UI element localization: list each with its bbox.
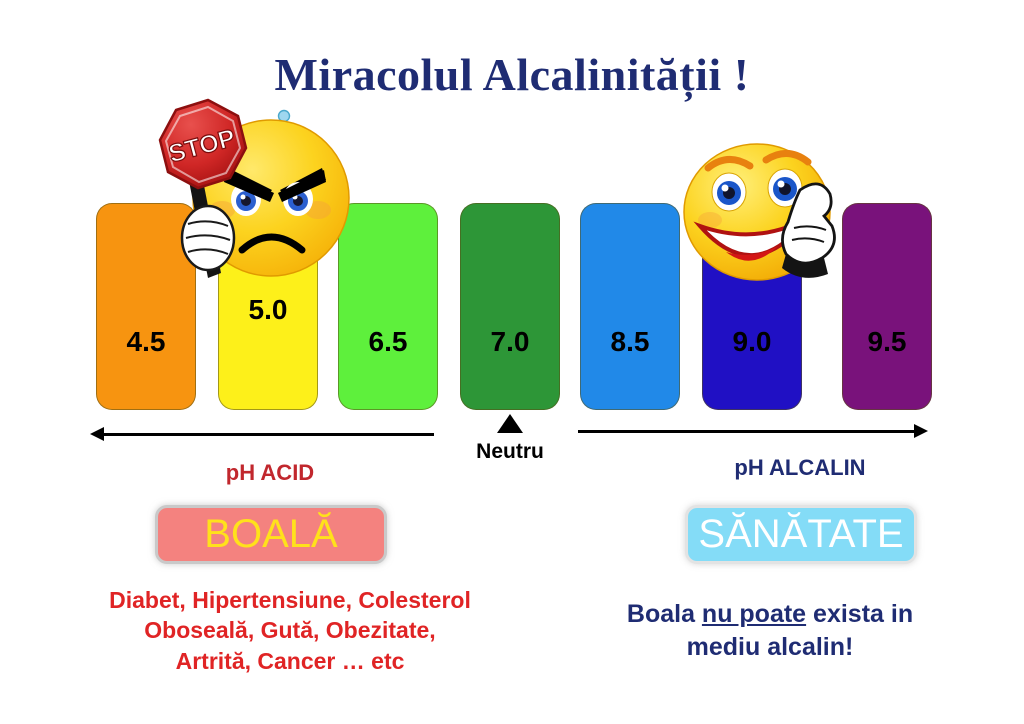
disease-list-line-2: Oboseală, Gută, Obezitate, [60, 615, 520, 645]
page-title: Miracolul Alcalinității ! [0, 48, 1024, 101]
disease-list: Diabet, Hipertensiune, Colesterol Obosea… [60, 585, 520, 676]
ph-bar-label-9-5: 9.5 [842, 326, 932, 358]
badge-boala: BOALĂ [155, 505, 387, 564]
disease-list-line-1: Diabet, Hipertensiune, Colesterol [60, 585, 520, 615]
disease-list-line-3: Artrită, Cancer … etc [60, 646, 520, 676]
ph-bar-label-8-5: 8.5 [580, 326, 680, 358]
happy-emoji-with-thumbs-up [682, 142, 867, 292]
health-message-line-1: Boala nu poate exista in [560, 598, 980, 631]
badge-sanatate: SĂNĂTATE [685, 505, 917, 564]
alkaline-axis-line [578, 430, 916, 433]
acid-arrow-head-icon [90, 427, 104, 441]
ph-scale-poster: Miracolul Alcalinității ! 4.5 5.0 6.5 7.… [0, 0, 1024, 724]
health-message: Boala nu poate exista in mediu alcalin! [560, 598, 980, 664]
ph-bar-8-5 [580, 203, 680, 410]
ph-bar-label-5-0: 5.0 [218, 294, 318, 326]
health-message-suffix: exista in [806, 600, 913, 628]
ph-bar-label-6-5: 6.5 [338, 326, 438, 358]
ph-alcalin-label: pH ALCALIN [640, 455, 960, 481]
ph-acid-label: pH ACID [110, 460, 430, 486]
alkaline-arrow-head-icon [914, 424, 928, 438]
health-message-line-2: mediu alcalin! [560, 631, 980, 664]
ph-bar-label-4-5: 4.5 [96, 326, 196, 358]
health-message-emphasis: nu poate [702, 600, 806, 628]
angry-emoji-with-stop-sign: STOP [146, 98, 356, 288]
neutral-marker-triangle [497, 414, 523, 433]
ph-bar-label-9-0: 9.0 [702, 326, 802, 358]
acid-axis-line [104, 433, 434, 436]
ph-bar-7-0 [460, 203, 560, 410]
health-message-prefix: Boala [627, 600, 702, 628]
ph-bar-label-7-0: 7.0 [460, 326, 560, 358]
neutral-label: Neutru [450, 440, 570, 464]
